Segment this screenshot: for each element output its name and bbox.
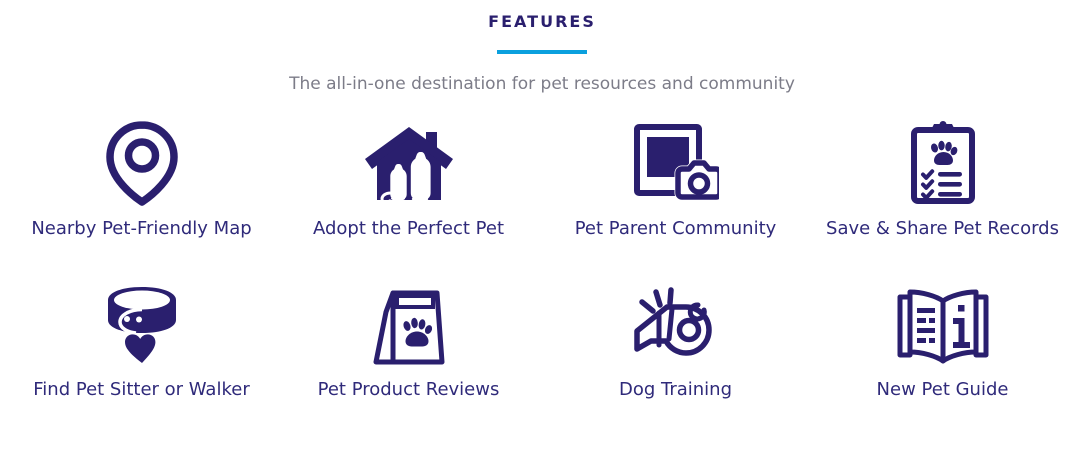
open-book-info-icon xyxy=(896,276,990,371)
title-underline-rule xyxy=(497,50,587,54)
pet-house-icon xyxy=(363,115,455,210)
feature-item-pet-product-reviews[interactable]: Pet Product Reviews xyxy=(275,276,542,437)
section-eyebrow-title: FEATURES xyxy=(0,14,1084,30)
feature-item-find-pet-sitter-or-walker[interactable]: Find Pet Sitter or Walker xyxy=(8,276,275,437)
feature-item-new-pet-guide[interactable]: New Pet Guide xyxy=(809,276,1076,437)
feature-label: Save & Share Pet Records xyxy=(826,218,1059,240)
feature-label: Nearby Pet-Friendly Map xyxy=(31,218,251,240)
clipboard-paw-checklist-icon xyxy=(910,115,976,210)
feature-item-pet-parent-community[interactable]: Pet Parent Community xyxy=(542,115,809,276)
pet-collar-heart-tag-icon xyxy=(102,276,182,371)
photo-camera-icon xyxy=(633,115,719,210)
feature-item-adopt-the-perfect-pet[interactable]: Adopt the Perfect Pet xyxy=(275,115,542,276)
feature-label: Dog Training xyxy=(619,379,732,401)
whistle-icon xyxy=(629,276,723,371)
feature-label: New Pet Guide xyxy=(877,379,1009,401)
section-subtitle: The all-in-one destination for pet resou… xyxy=(0,76,1084,93)
feature-label: Pet Product Reviews xyxy=(318,379,500,401)
feature-label: Adopt the Perfect Pet xyxy=(313,218,504,240)
pet-food-bag-paw-icon xyxy=(371,276,447,371)
map-pin-icon xyxy=(105,115,179,210)
feature-label: Pet Parent Community xyxy=(575,218,777,240)
feature-item-dog-training[interactable]: Dog Training xyxy=(542,276,809,437)
features-section: FEATURES The all-in-one destination for … xyxy=(0,0,1084,461)
feature-item-save-share-pet-records[interactable]: Save & Share Pet Records xyxy=(809,115,1076,276)
section-heading-block: FEATURES The all-in-one destination for … xyxy=(0,0,1084,93)
feature-item-nearby-pet-friendly-map[interactable]: Nearby Pet-Friendly Map xyxy=(8,115,275,276)
feature-label: Find Pet Sitter or Walker xyxy=(33,379,249,401)
features-grid: Nearby Pet-Friendly Map xyxy=(0,115,1084,437)
